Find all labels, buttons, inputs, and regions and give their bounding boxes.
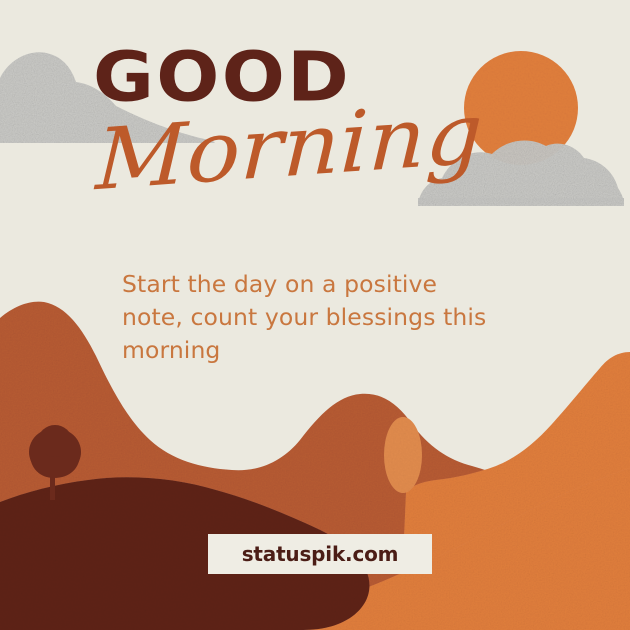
site-badge-label: statuspik.com — [242, 542, 399, 566]
body-message: Start the day on a positive note, count … — [122, 268, 502, 367]
site-badge[interactable]: statuspik.com — [208, 534, 432, 574]
tree-right-oval-icon — [384, 417, 422, 493]
poster-canvas: GOOD Morning Start the day on a positive… — [0, 0, 630, 630]
page-title-morning: Morning — [95, 91, 485, 202]
